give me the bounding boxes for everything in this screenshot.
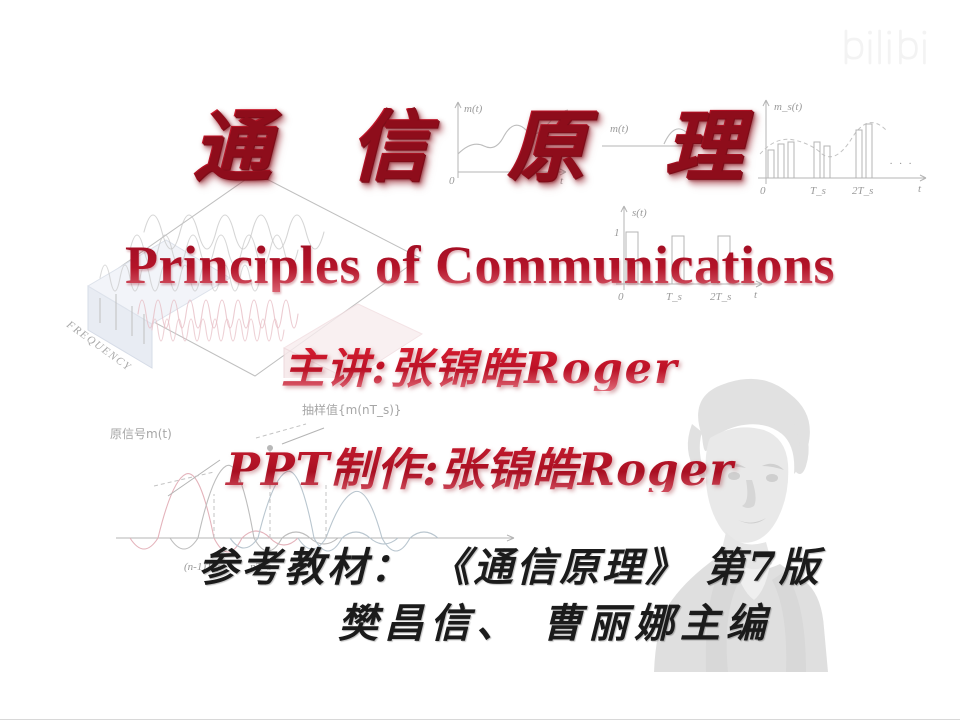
presentation-slide: FREQUENCY TIME m(t) 0 t m(t) m_s(t) [0, 0, 960, 720]
page-subtitle-english: Principles of Communications [0, 238, 960, 292]
textbook-reference: 参考教材： 《通信原理》 第7版 [0, 548, 960, 588]
page-title: 通 信 原 理 [0, 108, 960, 186]
presenter-credit: 主讲:张锦皓Roger [0, 348, 960, 391]
textbook-authors: 樊昌信、 曹丽娜主编 [0, 604, 960, 644]
ppt-author-credit: PPT制作:张锦皓Roger [0, 447, 960, 492]
slide-text-layer: 通 信 原 理 Principles of Communications 主讲:… [0, 0, 960, 719]
